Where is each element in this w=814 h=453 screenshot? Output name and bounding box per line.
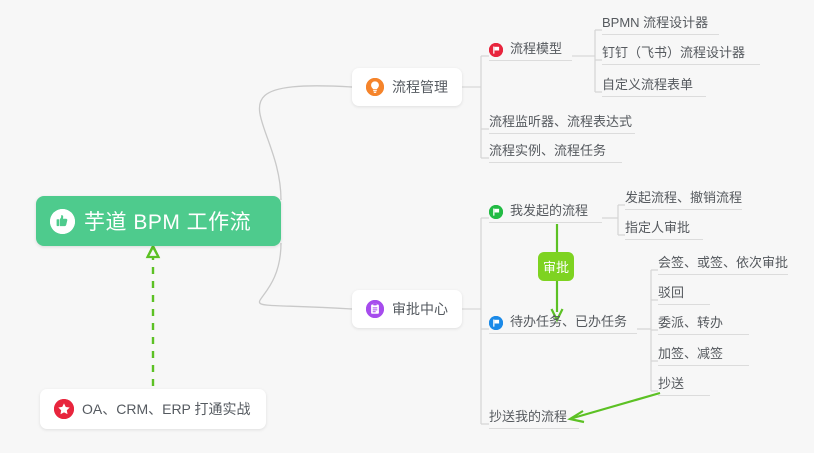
node-listener-expression[interactable]: 流程监听器、流程表达式	[489, 113, 635, 134]
node-my-initiated-label: 我发起的流程	[510, 202, 588, 219]
node-bpmn-designer[interactable]: BPMN 流程设计器	[602, 14, 719, 35]
node-approval-center-label: 审批中心	[392, 299, 448, 319]
thumbs-up-icon	[50, 209, 75, 234]
node-cc-to-me[interactable]: 抄送我的流程	[489, 408, 579, 429]
node-integration[interactable]: OA、CRM、ERP 打通实战	[40, 389, 266, 429]
node-assignee-approval-label: 指定人审批	[625, 219, 690, 236]
node-my-initiated[interactable]: 我发起的流程	[489, 202, 602, 223]
arrow-integration-to-root	[148, 246, 159, 386]
lightbulb-icon	[366, 78, 384, 96]
root-node[interactable]: 芋道 BPM 工作流	[36, 196, 281, 246]
node-process-management[interactable]: 流程管理	[352, 68, 462, 106]
node-cc-to-me-label: 抄送我的流程	[489, 408, 567, 425]
node-listener-expression-label: 流程监听器、流程表达式	[489, 113, 632, 130]
flag-icon-red	[489, 43, 503, 57]
node-cc[interactable]: 抄送	[658, 375, 710, 396]
node-approval-center[interactable]: 审批中心	[352, 290, 462, 328]
badge-approval[interactable]: 审批	[538, 252, 574, 281]
node-reject-label: 驳回	[658, 284, 684, 301]
node-assignee-approval[interactable]: 指定人审批	[625, 219, 703, 240]
node-todo-done[interactable]: 待办任务、已办任务	[489, 313, 637, 334]
node-start-cancel[interactable]: 发起流程、撤销流程	[625, 189, 742, 210]
flag-icon-green	[489, 205, 503, 219]
node-bpmn-designer-label: BPMN 流程设计器	[602, 14, 708, 31]
node-process-model-label: 流程模型	[510, 40, 562, 57]
node-process-management-label: 流程管理	[392, 77, 448, 97]
badge-approval-label: 审批	[543, 257, 569, 276]
flag-icon-blue	[489, 316, 503, 330]
edge-root-to-approval-center	[259, 243, 352, 309]
arrow-cc-to-ccflow	[570, 393, 660, 422]
node-multi-sign[interactable]: 会签、或签、依次审批	[658, 254, 788, 275]
node-custom-form-label: 自定义流程表单	[602, 76, 693, 93]
node-add-remove-sign-label: 加签、减签	[658, 345, 723, 362]
node-custom-form[interactable]: 自定义流程表单	[602, 76, 706, 97]
node-multi-sign-label: 会签、或签、依次审批	[658, 254, 788, 271]
node-instance-task-label: 流程实例、流程任务	[489, 142, 606, 159]
node-cc-label: 抄送	[658, 375, 684, 392]
node-dingtalk-designer[interactable]: 钉钉（飞书）流程设计器	[602, 44, 760, 65]
node-delegate-transfer-label: 委派、转办	[658, 314, 723, 331]
node-dingtalk-designer-label: 钉钉（飞书）流程设计器	[602, 44, 745, 61]
node-process-model[interactable]: 流程模型	[489, 40, 572, 61]
edge-root-to-process-management	[259, 86, 352, 200]
node-add-remove-sign[interactable]: 加签、减签	[658, 345, 749, 366]
root-label: 芋道 BPM 工作流	[84, 206, 251, 236]
star-icon	[54, 399, 74, 419]
node-instance-task[interactable]: 流程实例、流程任务	[489, 142, 622, 163]
mindmap-canvas: 芋道 BPM 工作流 流程管理 审批中心	[0, 0, 814, 453]
node-reject[interactable]: 驳回	[658, 284, 710, 305]
node-delegate-transfer[interactable]: 委派、转办	[658, 314, 749, 335]
clipboard-icon	[366, 300, 384, 318]
node-integration-label: OA、CRM、ERP 打通实战	[82, 399, 251, 419]
node-todo-done-label: 待办任务、已办任务	[510, 313, 627, 330]
node-start-cancel-label: 发起流程、撤销流程	[625, 189, 742, 206]
